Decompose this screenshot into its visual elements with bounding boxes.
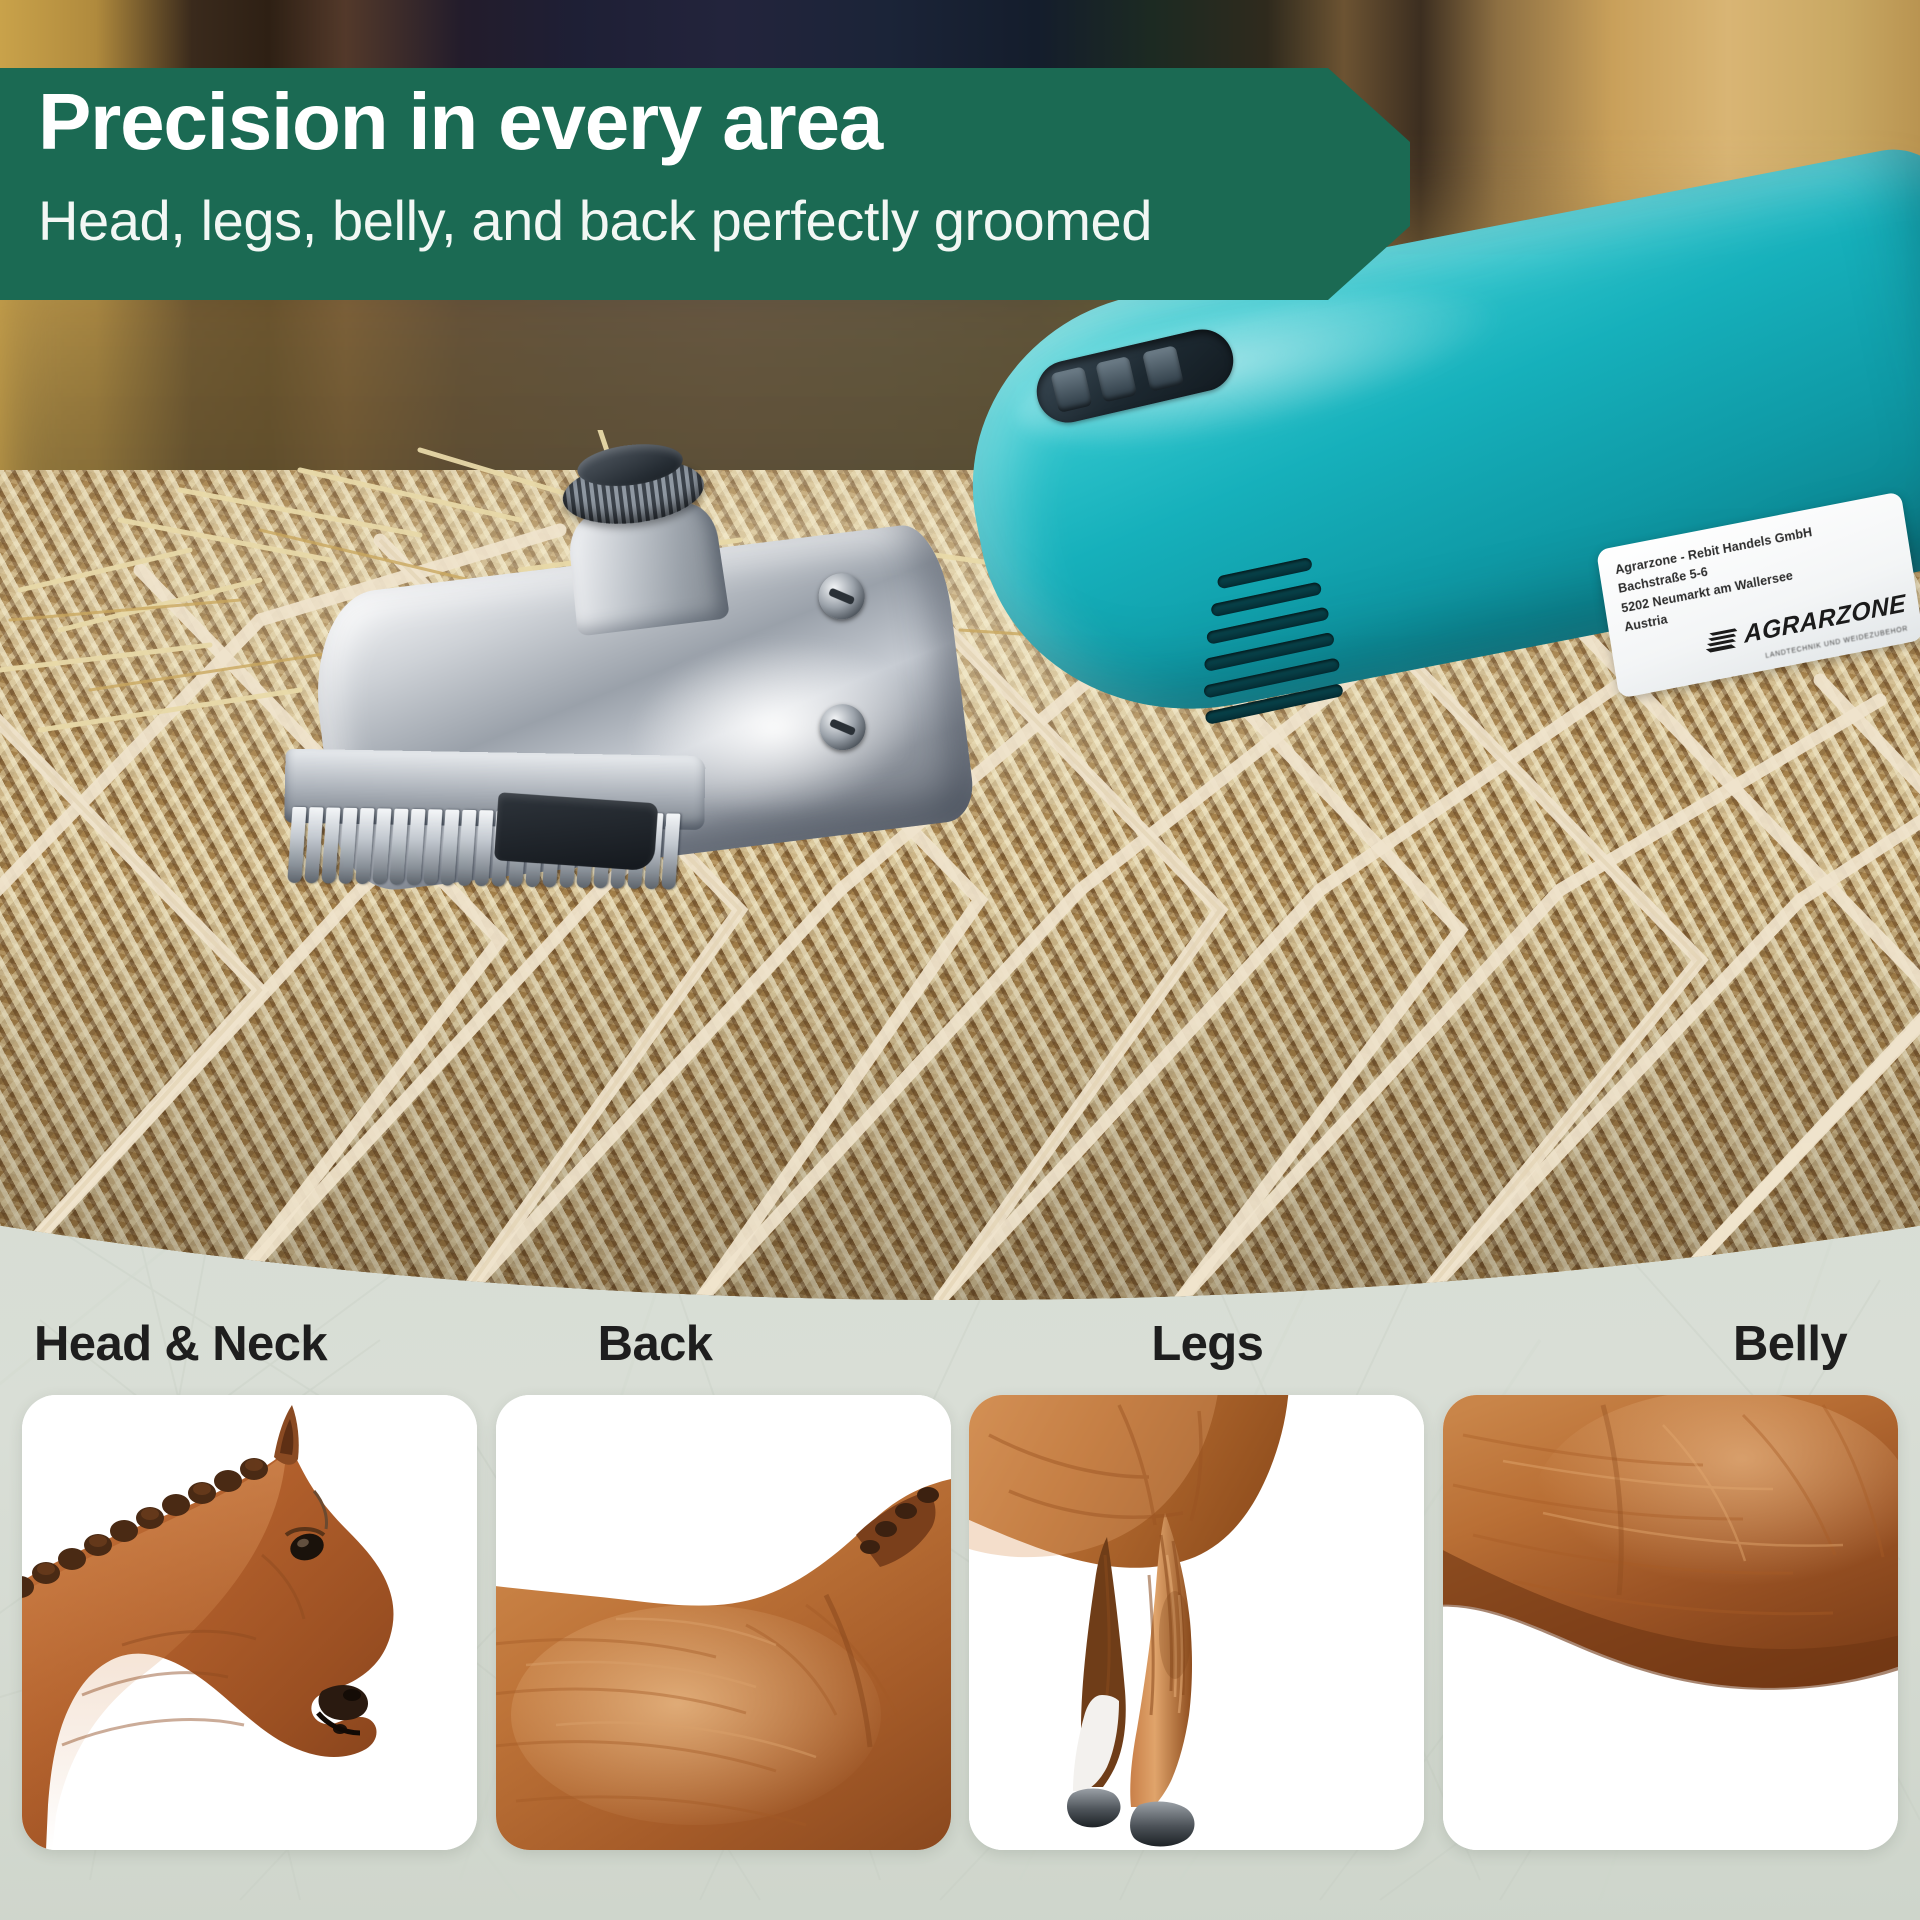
horse-belly-image [1443, 1395, 1898, 1850]
headline-banner: Precision in every area Head, legs, bell… [0, 68, 1410, 300]
cell-label-belly: Belly [1443, 1320, 1898, 1369]
card-back[interactable] [496, 1395, 951, 1850]
agrarzone-logo-icon [1703, 624, 1740, 654]
horse-legs-image [969, 1395, 1424, 1850]
banner-subtitle: Head, legs, belly, and back perfectly gr… [38, 190, 1152, 252]
card-head-neck[interactable] [22, 1395, 477, 1850]
cell-label-legs: Legs [969, 1320, 1424, 1369]
poster-canvas: Agrarzone - Rebit Handels GmbH Bachstraß… [0, 0, 1920, 1920]
grid-cell-legs: Legs [969, 1320, 1424, 1850]
cell-label-back: Back [496, 1320, 951, 1369]
clipper-head [298, 459, 1042, 941]
card-legs[interactable] [969, 1395, 1424, 1850]
body-area-grid: Head & Neck [0, 1320, 1920, 1920]
banner-title: Precision in every area [38, 80, 882, 164]
card-belly[interactable] [1443, 1395, 1898, 1850]
grid-cell-head-neck: Head & Neck [22, 1320, 477, 1850]
horse-back-image [496, 1395, 951, 1850]
grid-cell-belly: Belly [1443, 1320, 1898, 1850]
clipper-blade [283, 749, 706, 906]
cell-label-head-neck: Head & Neck [22, 1320, 477, 1369]
grid-cell-back: Back [496, 1320, 951, 1850]
horse-head-neck-image [22, 1395, 477, 1850]
